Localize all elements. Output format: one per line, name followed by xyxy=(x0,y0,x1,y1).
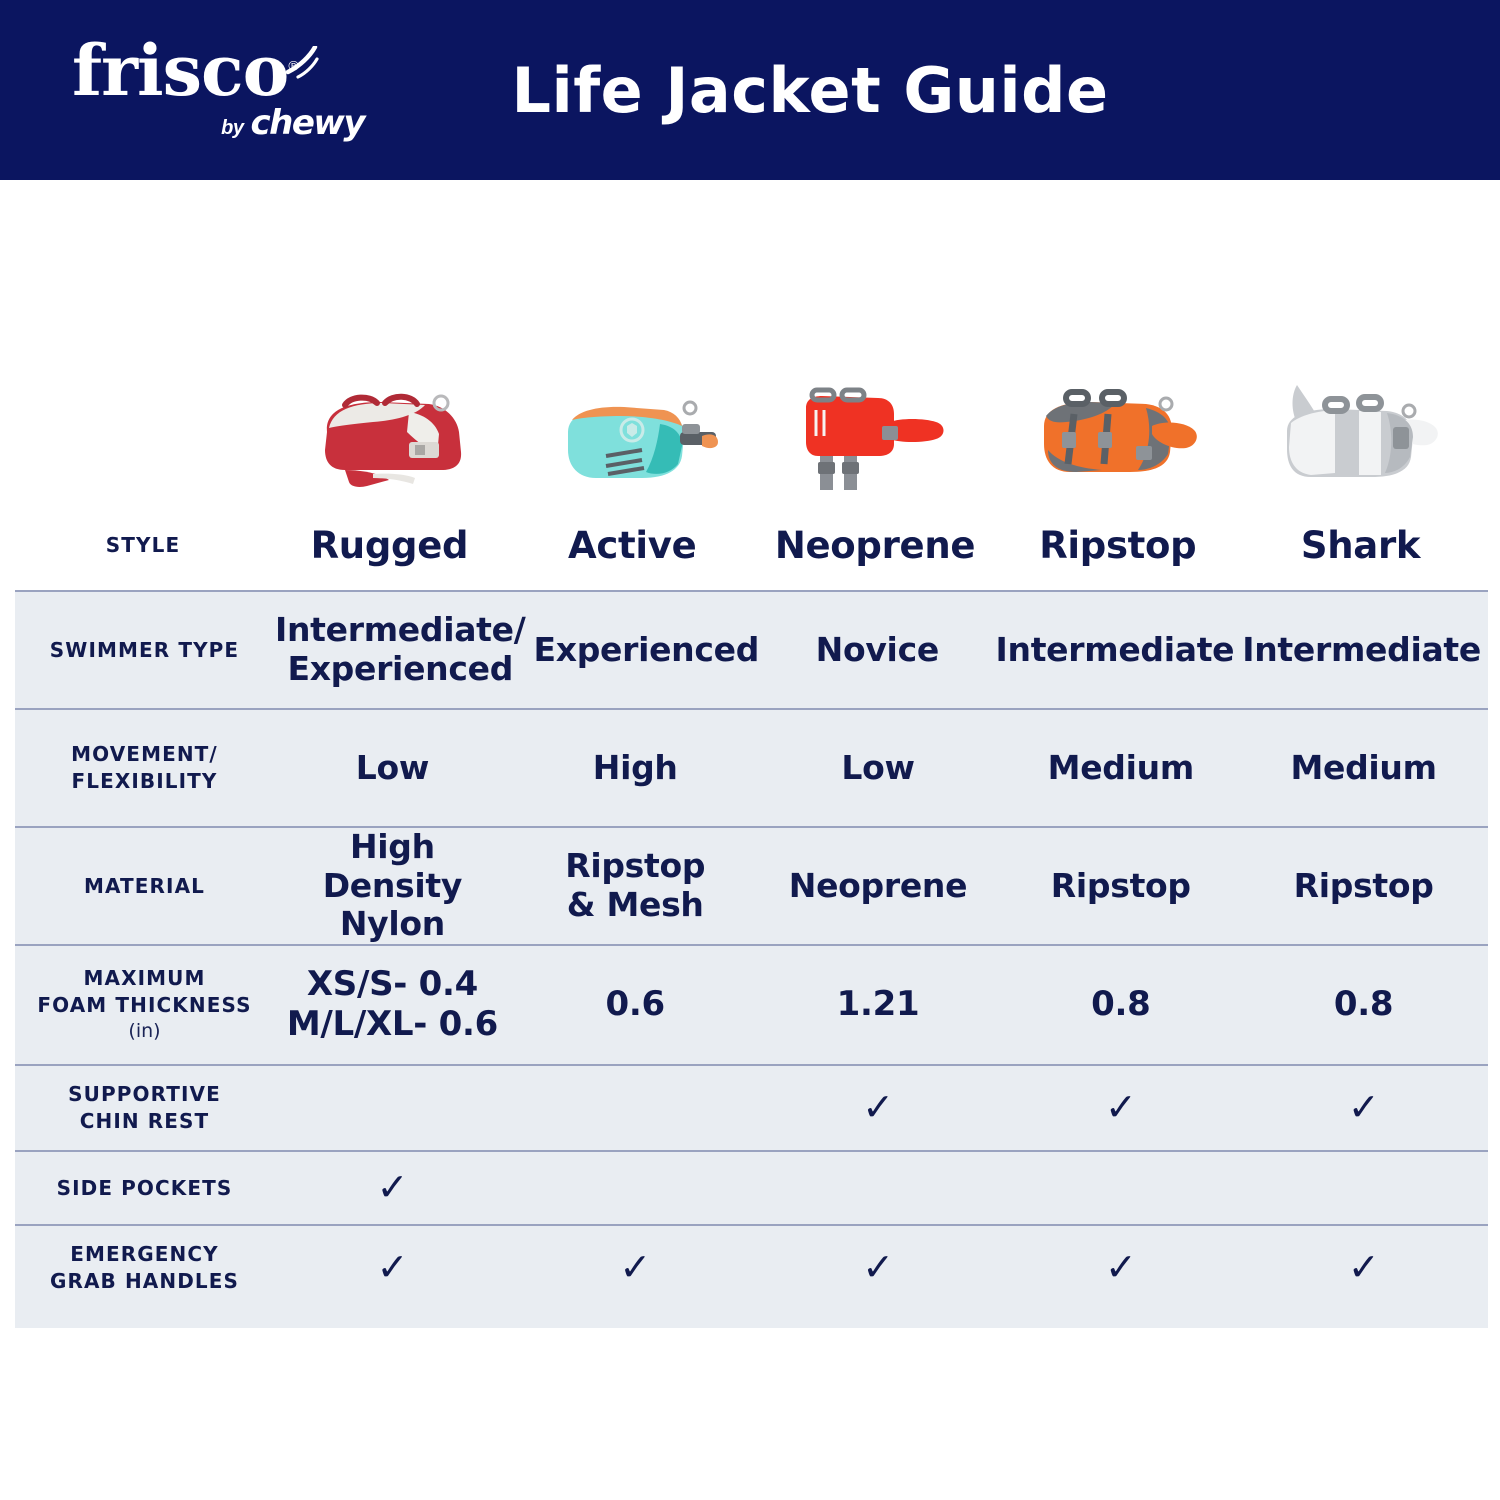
product-image-rugged xyxy=(268,170,511,510)
cell-chinrest-ripstop: ✓ xyxy=(999,1088,1242,1129)
style-name-neoprene: Neoprene xyxy=(754,524,997,567)
product-image-row xyxy=(0,180,1500,510)
cell-material-shark: Ripstop xyxy=(1242,867,1485,906)
style-name-label: Ripstop xyxy=(1039,524,1196,567)
checkmark-icon: ✓ xyxy=(1105,1085,1137,1129)
cell-foam-neoprene: 1.21 xyxy=(757,985,1000,1025)
cell-foam-ripstop: 0.8 xyxy=(999,985,1242,1025)
cell-chinrest-neoprene: ✓ xyxy=(757,1088,1000,1129)
row-label-emergency-grab-handles: EMERGENCYGRAB HANDLES xyxy=(50,1242,239,1293)
product-image-shark xyxy=(1239,170,1482,510)
logo-by-text: by xyxy=(221,117,243,139)
style-row-label: STYLE xyxy=(106,533,180,557)
logo-wordmark: frisco® xyxy=(72,38,298,105)
table-row: MATERIAL High DensityNylon Ripstop& Mesh… xyxy=(15,826,1488,944)
cell-swimmer-type-rugged: Intermediate/Experienced xyxy=(271,611,529,688)
cell-grabhandles-rugged: ✓ xyxy=(271,1248,514,1289)
page-header: frisco® bychewy Life Jacket Guide xyxy=(0,0,1500,180)
row-label-cell: SWIMMER TYPE xyxy=(18,637,271,664)
cell-foam-rugged: XS/S- 0.4M/L/XL- 0.6 xyxy=(271,965,514,1045)
checkmark-icon: ✓ xyxy=(1348,1245,1380,1289)
style-row-label-cell: STYLE xyxy=(18,532,268,559)
row-label-cell: SIDE POCKETS xyxy=(18,1175,271,1202)
shark-life-jacket-image xyxy=(1263,365,1458,500)
row-label-cell: MOVEMENT/FLEXIBILITY xyxy=(18,741,271,795)
cell-swimmer-type-neoprene: Novice xyxy=(763,631,991,670)
checkmark-icon: ✓ xyxy=(619,1245,651,1289)
cell-movement-neoprene: Low xyxy=(757,749,1000,788)
row-label-cell: MAXIMUMFOAM THICKNESS (in) xyxy=(18,965,271,1045)
neoprene-life-jacket-image xyxy=(782,370,967,500)
row-label-supportive-chin-rest: SUPPORTIVECHIN REST xyxy=(68,1082,221,1133)
product-image-neoprene xyxy=(754,170,997,510)
style-name-shark: Shark xyxy=(1239,524,1482,567)
cell-movement-shark: Medium xyxy=(1242,749,1485,788)
cell-material-rugged: High DensityNylon xyxy=(271,828,514,944)
style-name-active: Active xyxy=(511,524,754,567)
cell-sidepockets-rugged: ✓ xyxy=(271,1168,514,1209)
checkmark-icon: ✓ xyxy=(862,1085,894,1129)
row-label-cell: MATERIAL xyxy=(18,873,271,900)
row-sublabel-unit: (in) xyxy=(24,1019,265,1045)
checkmark-icon: ✓ xyxy=(377,1245,409,1289)
style-name-label: Neoprene xyxy=(775,524,975,567)
frisco-by-chewy-logo: frisco® bychewy xyxy=(72,38,372,143)
cell-material-ripstop: Ripstop xyxy=(999,867,1242,906)
cell-grabhandles-shark: ✓ xyxy=(1242,1248,1485,1289)
cell-movement-active: High xyxy=(514,749,757,788)
cell-grabhandles-ripstop: ✓ xyxy=(999,1248,1242,1289)
style-name-label: Rugged xyxy=(311,524,469,567)
row-label-side-pockets: SIDE POCKETS xyxy=(57,1176,233,1200)
table-row: EMERGENCYGRAB HANDLES ✓ ✓ ✓ ✓ ✓ xyxy=(15,1224,1488,1310)
cell-grabhandles-neoprene: ✓ xyxy=(757,1248,1000,1289)
cell-grabhandles-active: ✓ xyxy=(514,1248,757,1289)
swoosh-icon xyxy=(284,46,320,80)
style-name-rugged: Rugged xyxy=(268,524,511,567)
ripstop-life-jacket-image xyxy=(1020,370,1215,500)
product-image-active xyxy=(511,170,754,510)
table-row: SWIMMER TYPE Intermediate/Experienced Ex… xyxy=(15,590,1488,708)
cell-swimmer-type-active: Experienced xyxy=(529,631,763,670)
table-bottom-padding xyxy=(15,1310,1488,1328)
cell-movement-ripstop: Medium xyxy=(999,749,1242,788)
table-row: MAXIMUMFOAM THICKNESS (in) XS/S- 0.4M/L/… xyxy=(15,944,1488,1064)
row-label-maximum-foam-thickness: MAXIMUMFOAM THICKNESS xyxy=(37,966,251,1017)
logo-wordmark-text: frisco xyxy=(72,29,288,112)
style-name-label: Active xyxy=(568,524,696,567)
cell-material-active: Ripstop& Mesh xyxy=(514,847,757,924)
cell-movement-rugged: Low xyxy=(271,749,514,788)
comparison-table: SWIMMER TYPE Intermediate/Experienced Ex… xyxy=(15,590,1488,1328)
active-life-jacket-image xyxy=(542,380,722,500)
cell-swimmer-type-shark: Intermediate xyxy=(1238,631,1485,670)
table-row: MOVEMENT/FLEXIBILITY Low High Low Medium… xyxy=(15,708,1488,826)
checkmark-icon: ✓ xyxy=(862,1245,894,1289)
style-header-row: STYLE Rugged Active Neoprene Ripstop Sha… xyxy=(0,510,1500,580)
cell-material-neoprene: Neoprene xyxy=(757,867,1000,906)
cell-swimmer-type-ripstop: Intermediate xyxy=(992,631,1239,670)
cell-foam-active: 0.6 xyxy=(514,985,757,1025)
row-label-swimmer-type: SWIMMER TYPE xyxy=(50,638,239,662)
checkmark-icon: ✓ xyxy=(1348,1085,1380,1129)
row-label-movement-flexibility: MOVEMENT/FLEXIBILITY xyxy=(71,742,218,793)
product-image-ripstop xyxy=(996,170,1239,510)
cell-foam-shark: 0.8 xyxy=(1242,985,1485,1025)
row-label-cell: SUPPORTIVECHIN REST xyxy=(18,1081,271,1135)
checkmark-icon: ✓ xyxy=(1105,1245,1137,1289)
rugged-life-jacket-image xyxy=(289,370,489,500)
table-row: SUPPORTIVECHIN REST ✓ ✓ ✓ xyxy=(15,1064,1488,1150)
cell-chinrest-shark: ✓ xyxy=(1242,1088,1485,1129)
row-label-material: MATERIAL xyxy=(84,874,205,898)
row-label-cell: EMERGENCYGRAB HANDLES xyxy=(18,1241,271,1295)
style-name-ripstop: Ripstop xyxy=(996,524,1239,567)
checkmark-icon: ✓ xyxy=(377,1165,409,1209)
style-name-label: Shark xyxy=(1301,524,1420,567)
table-row: SIDE POCKETS ✓ xyxy=(15,1150,1488,1224)
